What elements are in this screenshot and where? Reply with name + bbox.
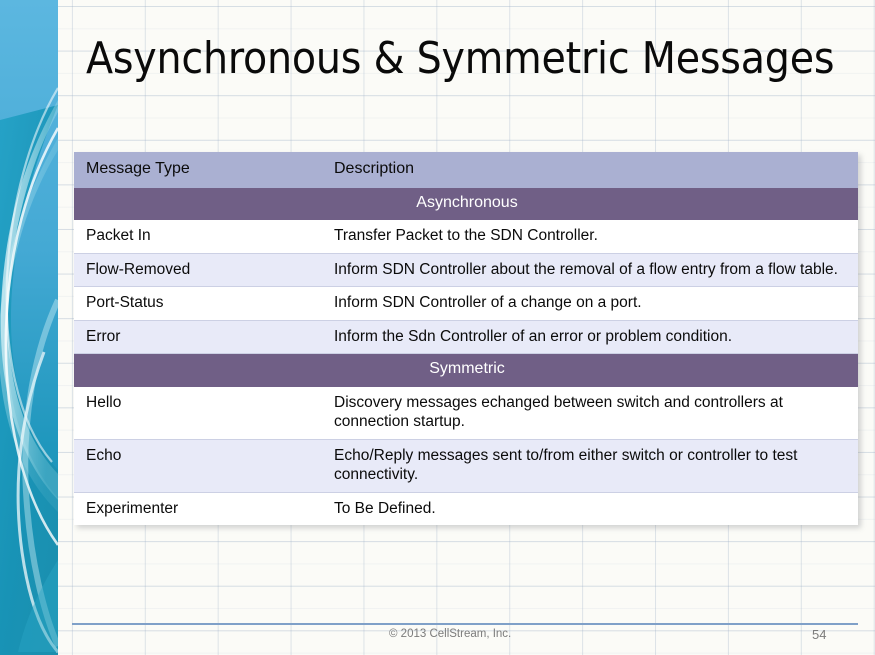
table-row: HelloDiscovery messages echanged between… xyxy=(74,387,858,440)
section-label: Asynchronous xyxy=(74,188,858,220)
cell-description: Echo/Reply messages sent to/from either … xyxy=(322,439,858,492)
footer-page-number: 54 xyxy=(812,627,852,642)
cell-description: Inform SDN Controller of a change on a p… xyxy=(322,287,858,321)
table-row: Flow-RemovedInform SDN Controller about … xyxy=(74,253,858,287)
cell-description: Discovery messages echanged between swit… xyxy=(322,387,858,440)
cell-message-type: Flow-Removed xyxy=(74,253,322,287)
column-header-message-type: Message Type xyxy=(74,152,322,188)
message-type-table-body: Message TypeDescriptionAsynchronousPacke… xyxy=(74,152,858,525)
table-header-row: Message TypeDescription xyxy=(74,152,858,188)
cell-message-type: Error xyxy=(74,320,322,354)
table-row: ExperimenterTo Be Defined. xyxy=(74,492,858,525)
cell-description: Transfer Packet to the SDN Controller. xyxy=(322,220,858,253)
slide: Asynchronous & Symmetric Messages Messag… xyxy=(0,0,875,655)
cell-description: Inform the Sdn Controller of an error or… xyxy=(322,320,858,354)
table-row: ErrorInform the Sdn Controller of an err… xyxy=(74,320,858,354)
table-row: Port-StatusInform SDN Controller of a ch… xyxy=(74,287,858,321)
table-section-row: Asynchronous xyxy=(74,188,858,220)
cell-message-type: Port-Status xyxy=(74,287,322,321)
footer-divider xyxy=(72,623,858,625)
table-row: Packet InTransfer Packet to the SDN Cont… xyxy=(74,220,858,253)
footer-copyright: © 2013 CellStream, Inc. xyxy=(389,628,511,640)
cell-message-type: Echo xyxy=(74,439,322,492)
cell-description: Inform SDN Controller about the removal … xyxy=(322,253,858,287)
sidebar-wave-svg xyxy=(0,0,58,655)
cell-message-type: Packet In xyxy=(74,220,322,253)
column-header-description: Description xyxy=(322,152,858,188)
cell-message-type: Hello xyxy=(74,387,322,440)
decorative-sidebar-wave-graphic xyxy=(0,0,58,655)
page-title: Asynchronous & Symmetric Messages xyxy=(86,34,866,85)
cell-message-type: Experimenter xyxy=(74,492,322,525)
message-type-table-container: Message TypeDescriptionAsynchronousPacke… xyxy=(74,152,858,525)
section-label: Symmetric xyxy=(74,354,858,387)
table-section-row: Symmetric xyxy=(74,354,858,387)
message-type-table: Message TypeDescriptionAsynchronousPacke… xyxy=(74,152,858,525)
cell-description: To Be Defined. xyxy=(322,492,858,525)
table-row: EchoEcho/Reply messages sent to/from eit… xyxy=(74,439,858,492)
